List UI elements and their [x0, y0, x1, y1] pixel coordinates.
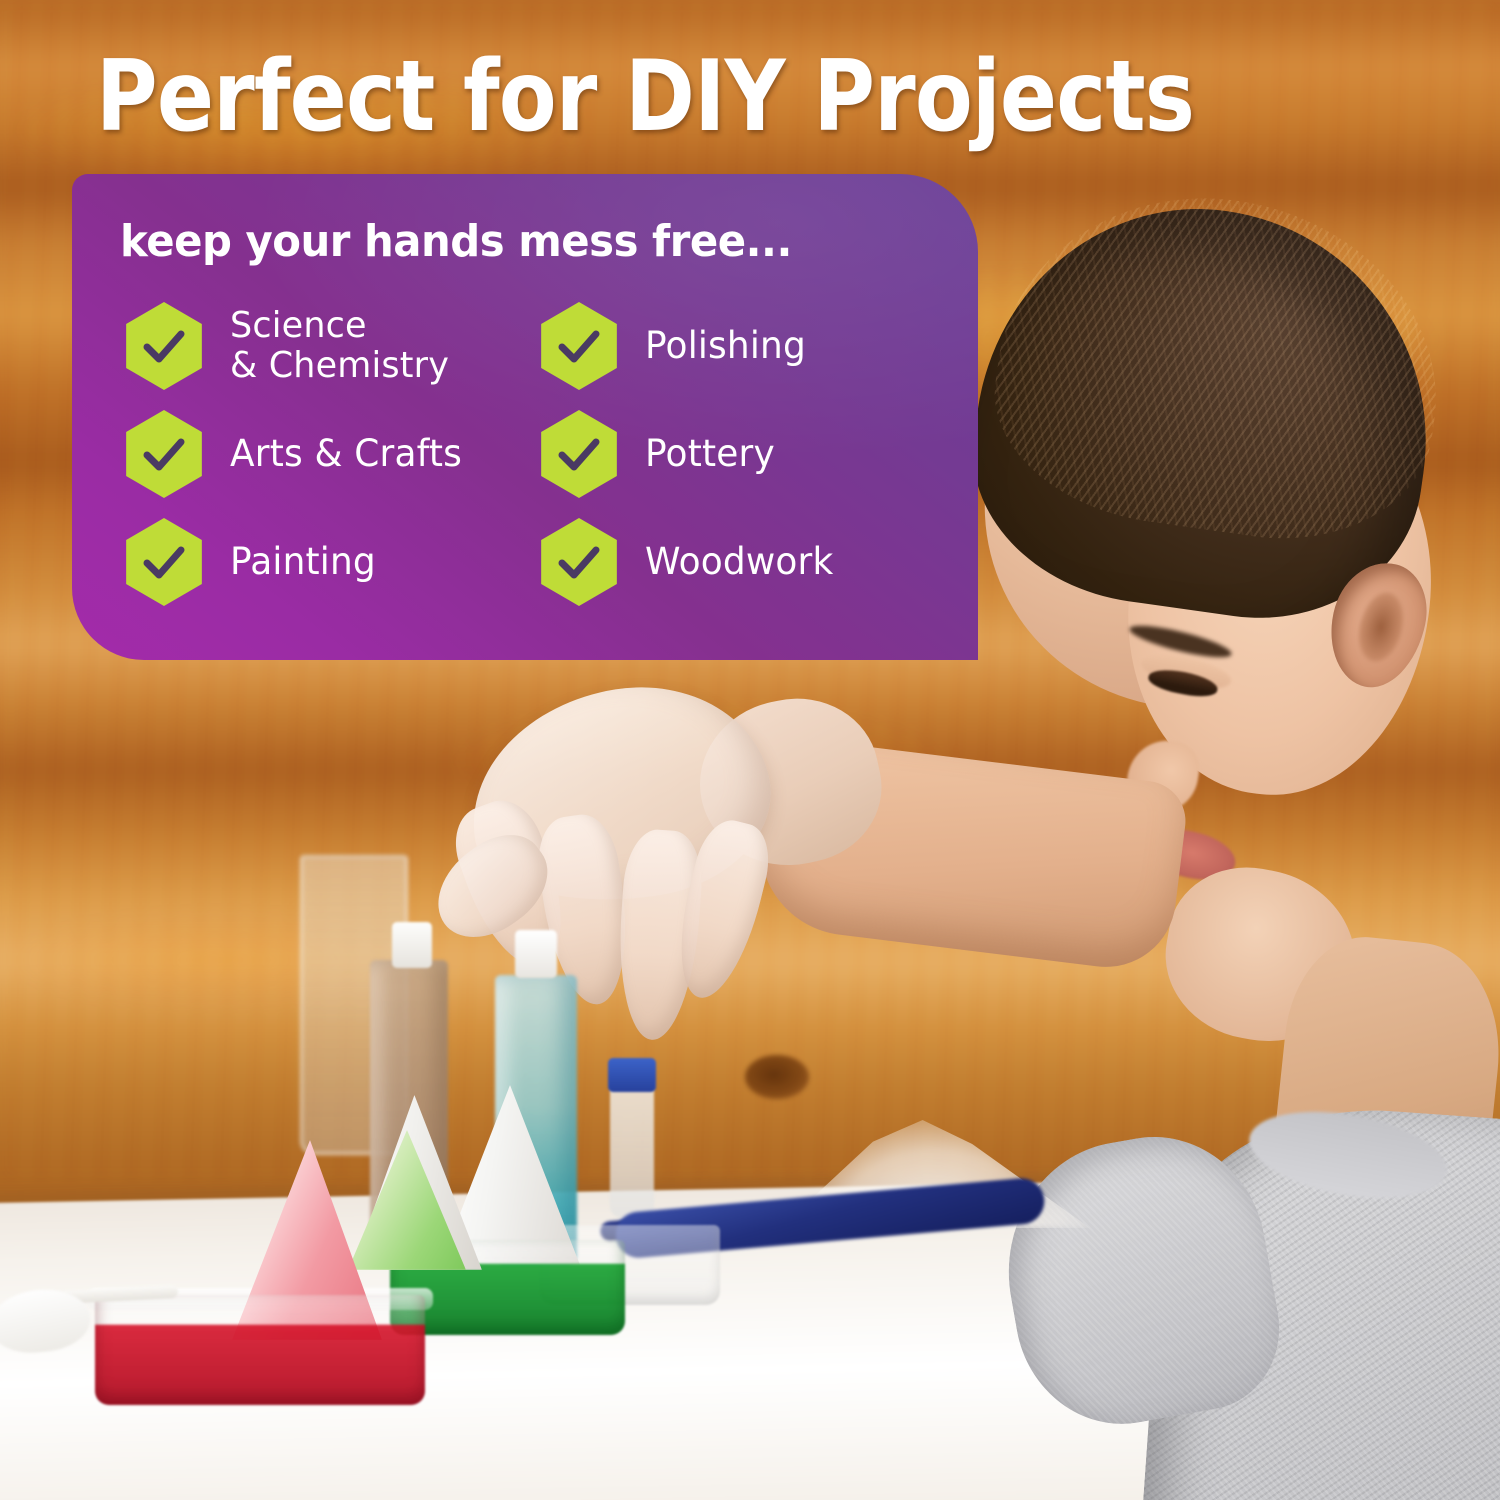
feature-item-science-chemistry: Science & Chemistry: [120, 292, 535, 400]
feature-column-right: Polishing Pottery: [535, 292, 950, 616]
feature-item-label: Woodwork: [645, 541, 833, 582]
check-badge-icon: [535, 518, 623, 606]
bottle-cap: [515, 930, 557, 978]
red-dye-container: [95, 1295, 425, 1405]
feature-item-painting: Painting: [120, 508, 535, 616]
check-badge-icon: [535, 410, 623, 498]
feature-item-label: Painting: [230, 541, 376, 582]
feature-item-polishing: Polishing: [535, 292, 950, 400]
feature-item-label: Science & Chemistry: [230, 306, 449, 387]
product-infographic: Perfect for DIY Projects keep your hands…: [0, 0, 1500, 1500]
check-badge-icon: [120, 410, 208, 498]
feature-item-label: Pottery: [645, 433, 775, 474]
wood-knot: [745, 1055, 809, 1099]
bottle-cap: [392, 922, 432, 968]
feature-item-woodwork: Woodwork: [535, 508, 950, 616]
check-badge-icon: [120, 302, 208, 390]
check-badge-icon: [120, 518, 208, 606]
sample-tube: [610, 1078, 654, 1218]
feature-item-arts-crafts: Arts & Crafts: [120, 400, 535, 508]
sample-tube-cap: [608, 1058, 656, 1092]
feature-item-label: Arts & Crafts: [230, 433, 462, 474]
feature-panel: keep your hands mess free... Science & C…: [72, 174, 978, 660]
check-badge-icon: [535, 302, 623, 390]
feature-item-label: Polishing: [645, 325, 806, 366]
feature-column-left: Science & Chemistry Arts & Crafts: [120, 292, 535, 616]
panel-subheading: keep your hands mess free...: [120, 216, 792, 267]
feature-columns: Science & Chemistry Arts & Crafts: [120, 292, 950, 616]
page-title: Perfect for DIY Projects: [90, 48, 1199, 146]
feature-item-pottery: Pottery: [535, 400, 950, 508]
